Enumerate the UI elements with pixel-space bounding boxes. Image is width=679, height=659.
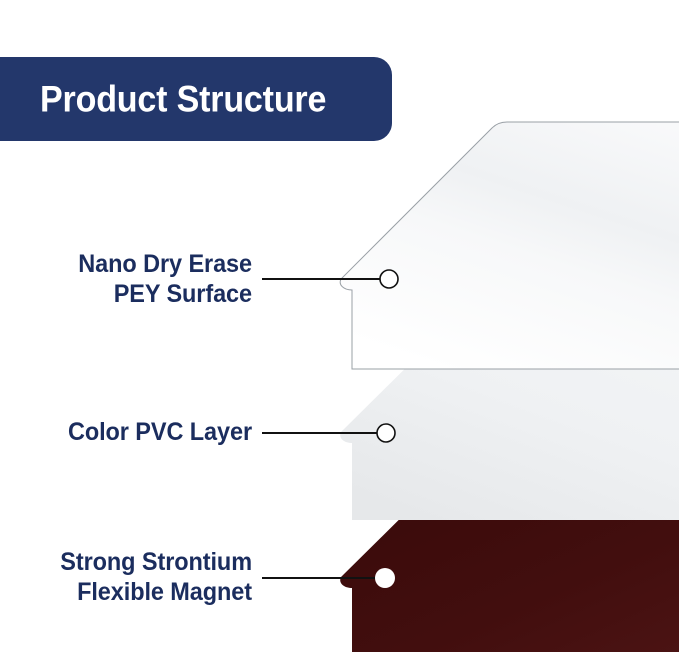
page-title: Product Structure (40, 81, 326, 118)
middle-color-pvc-layer (340, 330, 679, 520)
top-pey-surface-layer (340, 122, 679, 369)
header-banner: Product Structure (0, 57, 392, 141)
callout-label-color-pvc-layer: Color PVC Layer (34, 418, 252, 448)
callout-leaders (262, 270, 398, 588)
bottom-magnet-layer (340, 481, 679, 652)
callout-label-strong-strontium-flexible-magnet: Strong Strontium Flexible Magnet (25, 548, 252, 607)
marker-dot-strong-strontium (375, 568, 395, 588)
product-structure-infographic: Product Structure Nano Dry Erase PEY Sur… (0, 0, 679, 659)
callout-label-nano-dry-erase-pey-surface: Nano Dry Erase PEY Surface (34, 250, 252, 309)
marker-circle-nano-dry-erase (380, 270, 398, 288)
marker-circle-color-pvc (377, 424, 395, 442)
